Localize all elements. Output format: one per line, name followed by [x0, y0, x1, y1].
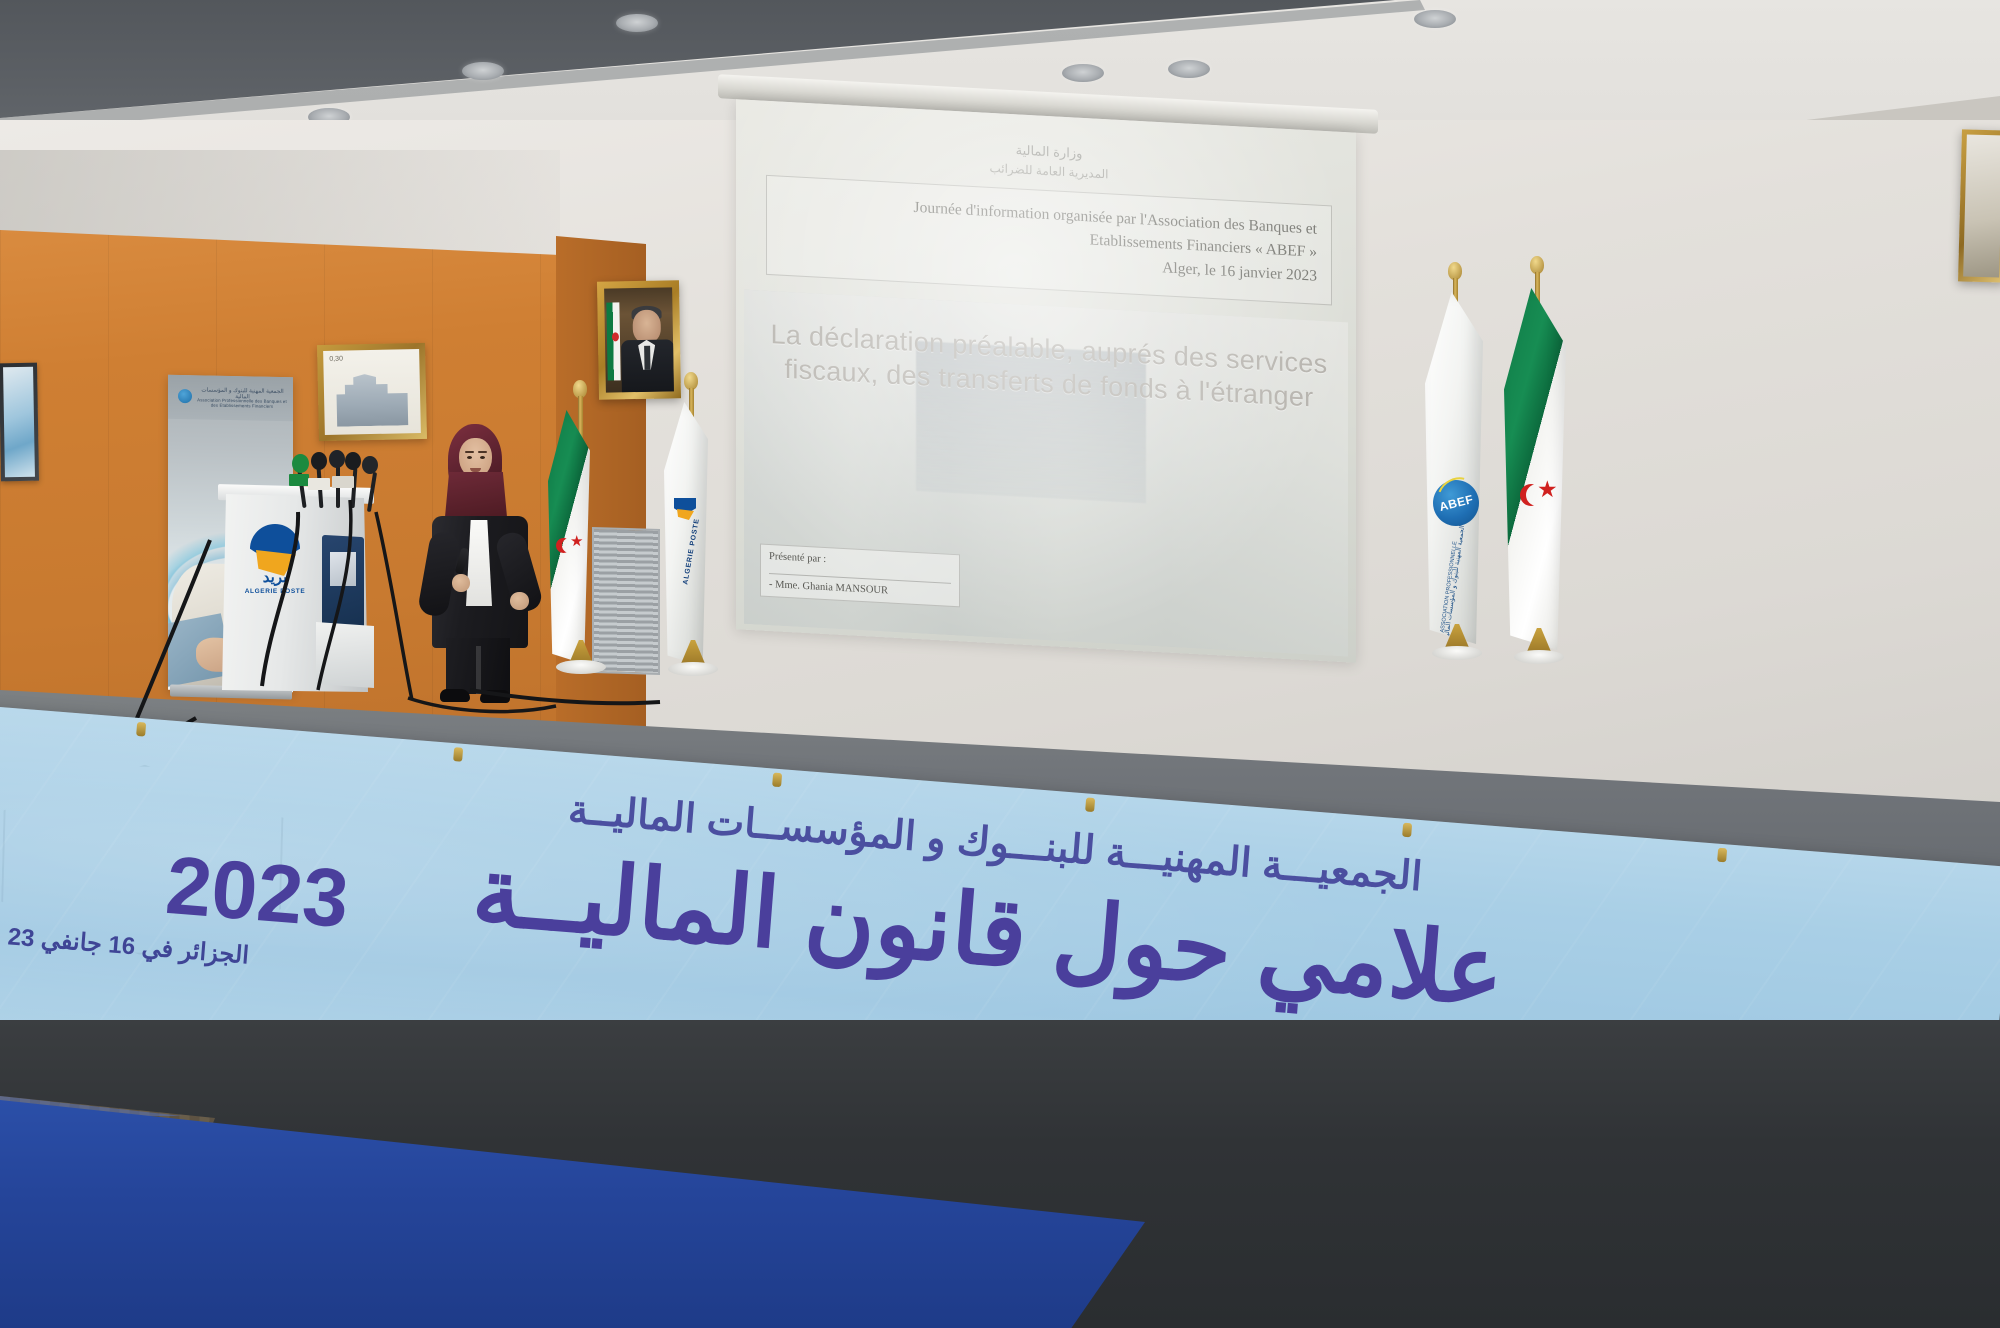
flag-stand-base: [556, 660, 606, 674]
projection-screen: وزارة المالية المديرية العامة للضرائب Jo…: [736, 99, 1356, 663]
speaker-shoe: [480, 690, 510, 703]
banner-year: 2023: [163, 839, 352, 947]
downlight-icon: [616, 14, 658, 32]
slide-org-box: Journée d'information organisée par l'As…: [766, 175, 1332, 305]
microphone-head: [345, 452, 361, 470]
downlight-icon: [1168, 60, 1210, 78]
speaker-person: [418, 424, 542, 702]
portrait-tie: [644, 346, 650, 370]
microphone-head: [362, 456, 378, 474]
speaker-eyebrow: [478, 451, 487, 453]
rollup-french-title: Association Professionnelle des Banques …: [194, 397, 290, 409]
mic-channel-flag: [289, 474, 309, 486]
star-icon: ★: [570, 534, 583, 549]
downlight-icon: [1062, 64, 1104, 82]
portrait-face: [632, 310, 661, 343]
microphone-head: [292, 454, 309, 473]
stamp-value-label: 0,30: [329, 356, 343, 363]
wall-artwork-right: [1958, 129, 2000, 282]
slide-presented-by-label: Présenté par :: [769, 551, 951, 572]
algerie-poste-logo: بريد ALGERIE POSTE: [244, 524, 306, 596]
banner-grommet: [453, 747, 463, 762]
flag-stand-base: [1514, 650, 1564, 664]
speaker-eye: [467, 456, 472, 459]
speaker-eyebrow: [465, 451, 474, 453]
slide-main-title: La déclaration préalable, auprés des ser…: [766, 317, 1332, 417]
speaker-shoe: [440, 689, 470, 702]
mic-channel-flag: [308, 478, 330, 490]
slide-presenter-box: Présenté par : - Mme. Ghania MANSOUR: [760, 544, 960, 608]
wall-artwork-left: [0, 363, 39, 482]
star-icon: ★: [1537, 478, 1558, 501]
speaker-right-hand: [510, 592, 529, 610]
banner-grommet: [1717, 848, 1727, 863]
banner-grommet: [1402, 823, 1412, 838]
poste-logo-latin: ALGERIE POSTE: [242, 588, 308, 595]
podium-side-panel: [316, 622, 374, 688]
banner-grommet: [136, 722, 146, 737]
banner-grommet: [772, 772, 782, 787]
flag-stand-base: [1432, 646, 1482, 660]
flag-stand-base: [668, 662, 718, 676]
air-vent-grille: [592, 527, 660, 675]
slide-presenter-name: - Mme. Ghania MANSOUR: [769, 573, 951, 600]
abef-logo-icon: [178, 389, 192, 403]
microphone-head: [329, 450, 345, 468]
speaker-leg-gap: [476, 646, 481, 694]
framed-stamp-artwork: 0,30: [317, 343, 427, 441]
downlight-icon: [1414, 10, 1456, 28]
speaker-left-hand: [452, 574, 470, 592]
downlight-icon: [462, 62, 504, 80]
president-portrait-frame: [597, 280, 681, 399]
microphone-head: [311, 452, 327, 470]
banner-grommet: [1085, 797, 1095, 812]
mic-channel-flag: [332, 476, 354, 488]
algeria-flag-icon: [606, 302, 620, 380]
poste-logo-arabic: بريد: [246, 568, 304, 586]
conference-photo-scene: 0,30 وزارة المالية المديرية العامة للضرا…: [0, 0, 2000, 1328]
speaker-eye: [480, 456, 485, 459]
stamp-building-illustration: [336, 373, 408, 427]
podium-monitor-screen: [330, 552, 356, 586]
